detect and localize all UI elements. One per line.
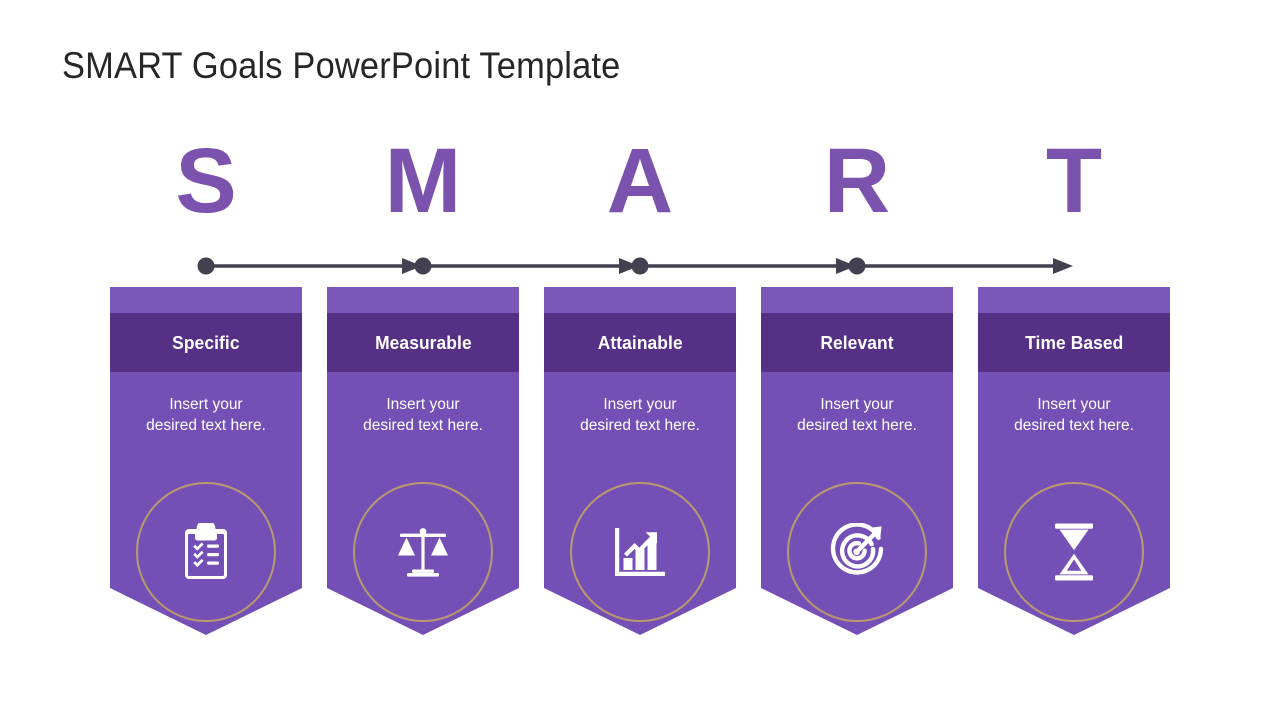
smart-cards-row: Specific Insert your desired text here.: [110, 287, 1172, 637]
page-title: SMART Goals PowerPoint Template: [62, 44, 620, 88]
card-body-line-1: Insert your: [1037, 396, 1110, 413]
card-body-line-1: Insert your: [169, 396, 242, 413]
balance-scale-icon: [393, 524, 453, 580]
timeline-node-3: [632, 258, 649, 275]
smart-card-time-based[interactable]: Time Based Insert your desired text here…: [978, 287, 1170, 635]
card-body-line-1: Insert your: [386, 396, 459, 413]
card-title: Time Based: [1025, 332, 1123, 354]
card-body-line-2: desired text here.: [580, 417, 700, 434]
card-icon-ring: [787, 482, 927, 622]
card-body-text[interactable]: Insert your desired text here.: [984, 394, 1164, 436]
card-icon-ring: [136, 482, 276, 622]
clipboard-checklist-icon: [179, 523, 233, 581]
card-top-strip: [327, 287, 519, 313]
acronym-letter-r: R: [761, 133, 953, 229]
timeline-node-1: [198, 258, 215, 275]
card-top-strip: [544, 287, 736, 313]
card-icon-ring: [1004, 482, 1144, 622]
target-bullseye-icon: [828, 523, 886, 581]
card-top-strip: [761, 287, 953, 313]
smart-card-measurable[interactable]: Measurable Insert your desired text here…: [327, 287, 519, 635]
timeline-arrowhead-4: [1053, 258, 1073, 274]
smart-card-attainable[interactable]: Attainable Insert your desired text here…: [544, 287, 736, 635]
card-icon-ring: [570, 482, 710, 622]
card-body-line-1: Insert your: [603, 396, 676, 413]
hourglass-icon: [1050, 522, 1098, 582]
timeline-connector: [190, 250, 1080, 282]
card-body-line-2: desired text here.: [1014, 417, 1134, 434]
acronym-letter-m: M: [327, 133, 519, 229]
acronym-letter-s: S: [110, 133, 302, 229]
acronym-letter-a: A: [544, 133, 736, 229]
card-body-line-1: Insert your: [820, 396, 893, 413]
acronym-letter-t: T: [978, 133, 1170, 229]
timeline-svg: [190, 250, 1080, 282]
smart-card-specific[interactable]: Specific Insert your desired text here.: [110, 287, 302, 635]
card-body-text[interactable]: Insert your desired text here.: [550, 394, 730, 436]
card-header-band: Time Based: [978, 313, 1170, 372]
smart-card-relevant[interactable]: Relevant Insert your desired text here.: [761, 287, 953, 635]
card-body-line-2: desired text here.: [363, 417, 483, 434]
card-title: Attainable: [597, 332, 682, 354]
timeline-node-4: [849, 258, 866, 275]
smart-goals-slide: SMART Goals PowerPoint Template S M A R …: [0, 0, 1280, 720]
card-body-text[interactable]: Insert your desired text here.: [767, 394, 947, 436]
card-title: Relevant: [820, 332, 893, 354]
card-body-line-2: desired text here.: [797, 417, 917, 434]
card-body-text[interactable]: Insert your desired text here.: [116, 394, 296, 436]
card-body-text[interactable]: Insert your desired text here.: [333, 394, 513, 436]
card-title: Specific: [172, 332, 239, 354]
card-icon-ring: [353, 482, 493, 622]
growth-bar-chart-icon: [612, 525, 668, 579]
card-header-band: Relevant: [761, 313, 953, 372]
timeline-node-2: [415, 258, 432, 275]
smart-acronym-row: S M A R T: [110, 133, 1172, 229]
card-body-line-2: desired text here.: [146, 417, 266, 434]
card-header-band: Specific: [110, 313, 302, 372]
card-title: Measurable: [375, 332, 472, 354]
card-header-band: Measurable: [327, 313, 519, 372]
card-top-strip: [110, 287, 302, 313]
card-top-strip: [978, 287, 1170, 313]
card-header-band: Attainable: [544, 313, 736, 372]
